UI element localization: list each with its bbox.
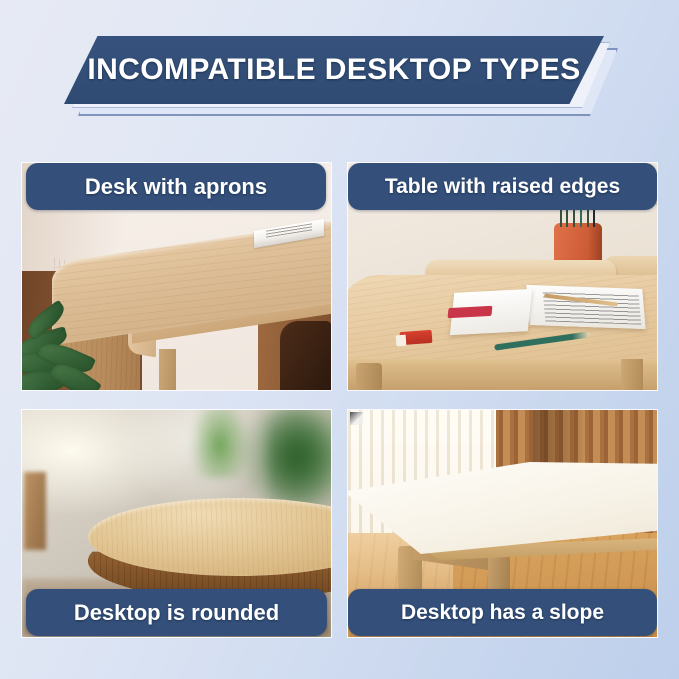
table-leg-left bbox=[356, 363, 382, 390]
image-corner-artifact bbox=[350, 412, 363, 425]
panel-label-desktop-is-rounded: Desktop is rounded bbox=[26, 589, 327, 636]
panel-label-desk-with-aprons: Desk with aprons bbox=[26, 163, 326, 210]
panel-desk-with-aprons: Desk with aprons bbox=[22, 163, 331, 390]
panel-table-with-raised-edges: Table with raised edges bbox=[348, 163, 657, 390]
panel-desktop-has-a-slope: Desktop has a slope bbox=[348, 410, 657, 637]
desk-leg bbox=[159, 349, 176, 390]
banner-body: INCOMPATIBLE DESKTOP TYPES bbox=[64, 36, 604, 104]
eraser-white-tip bbox=[396, 335, 407, 347]
panel-label-text: Table with raised edges bbox=[385, 175, 620, 199]
chair bbox=[280, 321, 331, 390]
panel-label-desktop-has-a-slope: Desktop has a slope bbox=[348, 589, 657, 636]
panel-grid: Desk with aprons bbox=[22, 163, 657, 637]
page-title: INCOMPATIBLE DESKTOP TYPES bbox=[87, 53, 580, 87]
table-leg-right bbox=[621, 359, 643, 390]
panel-desktop-is-rounded: Desktop is rounded bbox=[22, 410, 331, 637]
panel-label-text: Desk with aprons bbox=[85, 174, 267, 200]
infographic-root: INCOMPATIBLE DESKTOP TYPES bbox=[0, 0, 679, 679]
panel-label-table-with-raised-edges: Table with raised edges bbox=[348, 163, 657, 210]
table-apron bbox=[348, 369, 657, 390]
panel-label-text: Desktop has a slope bbox=[401, 601, 604, 625]
wooden-frame-blur bbox=[24, 472, 46, 550]
title-banner: INCOMPATIBLE DESKTOP TYPES bbox=[0, 36, 679, 140]
panel-label-text: Desktop is rounded bbox=[74, 600, 279, 626]
potted-plant bbox=[22, 303, 110, 390]
